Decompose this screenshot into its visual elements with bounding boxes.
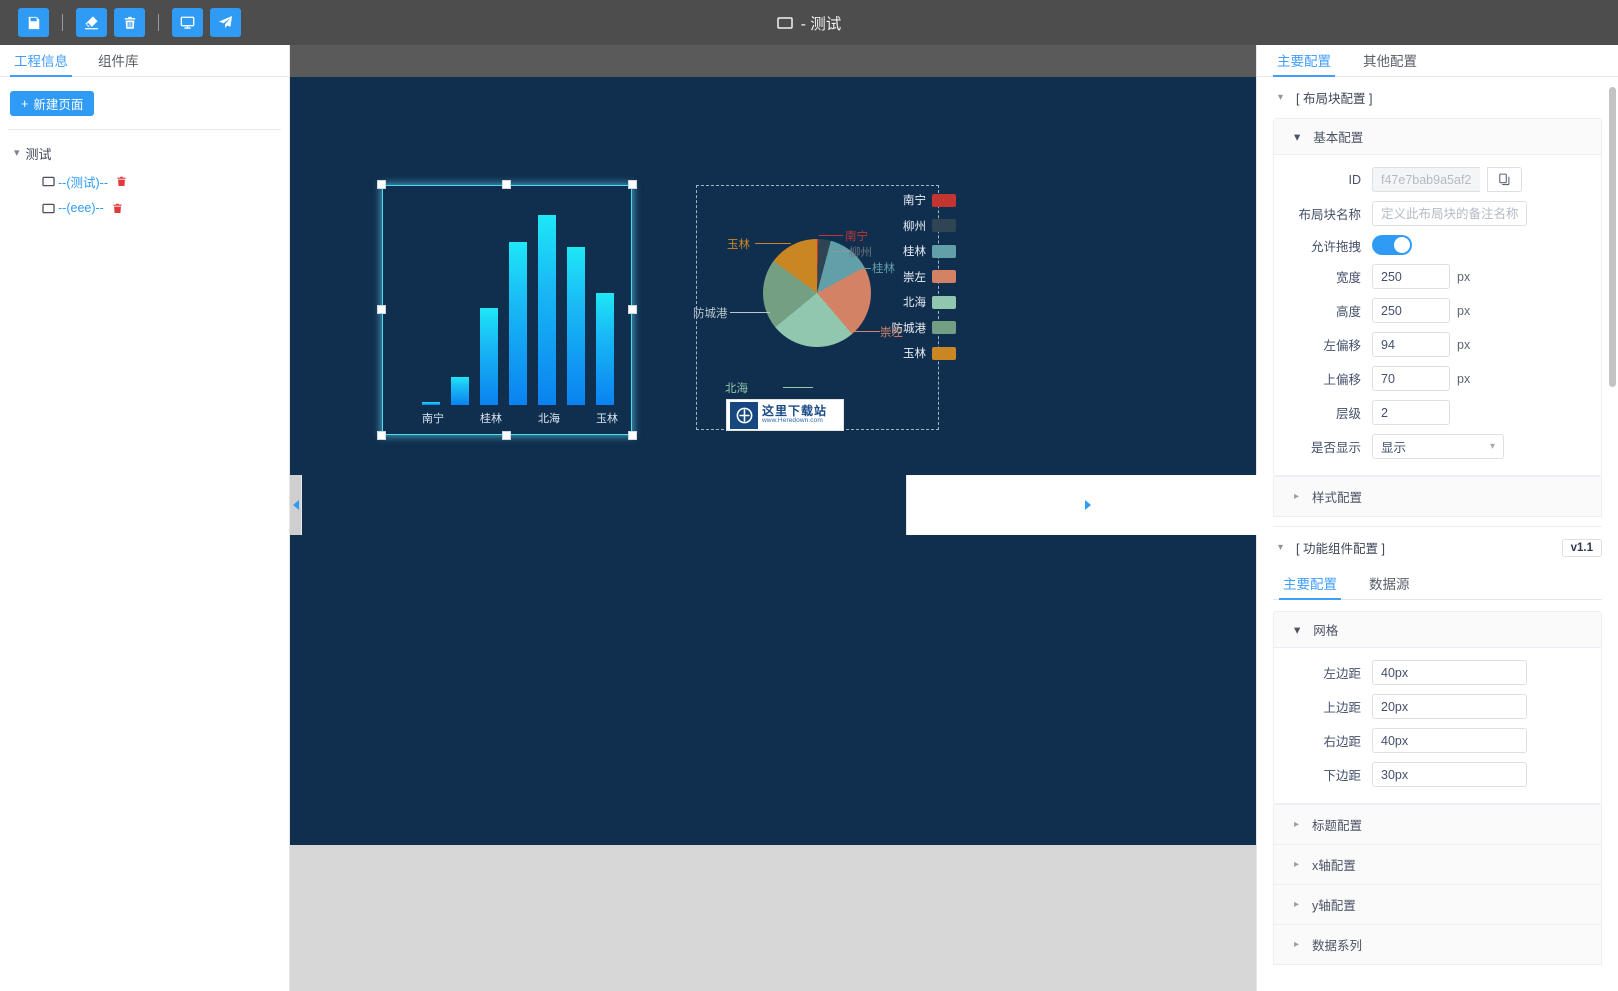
toggle-knob <box>1394 237 1410 253</box>
visibility-select-value: 显示 <box>1381 437 1406 456</box>
pie-legend-swatch <box>932 321 956 334</box>
height-unit: px <box>1457 304 1470 318</box>
chevron-right-icon: ▸ <box>1294 859 1299 870</box>
pie-slice-label: 崇左 <box>880 324 903 340</box>
chevron-right-icon: ▸ <box>1294 899 1299 910</box>
save-icon[interactable] <box>18 8 49 37</box>
pie-chart: 南宁柳州桂林崇左北海防城港玉林 南宁柳州桂林崇左北海防城港玉林 <box>697 186 938 429</box>
grid-config-card: ▾ 网格 左边距 上边距 右边距 <box>1273 611 1602 804</box>
bar-chart-widget[interactable]: 南宁柳州桂林崇左北海防城港玉林 <box>382 185 632 435</box>
resize-handle-bottom-right[interactable] <box>628 431 637 440</box>
section-x-axis-config-title: x轴配置 <box>1312 855 1356 874</box>
section-y-axis-config-title: y轴配置 <box>1312 895 1356 914</box>
tab-other-config[interactable]: 其他配置 <box>1359 45 1421 77</box>
field-width-label: 宽度 <box>1274 267 1372 286</box>
preview-icon[interactable] <box>172 8 203 37</box>
section-data-series-config[interactable]: ▸ 数据系列 <box>1273 925 1602 965</box>
page-icon <box>42 176 55 187</box>
field-height: 高度 px <box>1274 298 1587 323</box>
pie-legend-item[interactable]: 桂林 <box>903 243 956 259</box>
section-style-config-title: 样式配置 <box>1312 487 1362 506</box>
field-margin-left: 左边距 <box>1274 660 1587 685</box>
chevron-right-icon: ▸ <box>1294 491 1299 502</box>
right-panel-tabs: 主要配置 其他配置 <box>1257 45 1618 77</box>
pie-legend-swatch <box>932 296 956 309</box>
window-title-text: - 测试 <box>801 12 841 34</box>
section-y-axis-config[interactable]: ▸ y轴配置 <box>1273 885 1602 925</box>
field-allow-drag: 允许拖拽 <box>1274 235 1587 255</box>
app-root: - 测试 工程信息 组件库 + 新建页面 ▾ 测试 <box>0 0 1618 991</box>
resize-handle-top-left[interactable] <box>377 180 386 189</box>
pie-legend-label: 桂林 <box>903 243 926 259</box>
pie-legend-label: 南宁 <box>903 192 926 208</box>
width-unit: px <box>1457 270 1470 284</box>
field-id: ID <box>1274 167 1587 192</box>
grid-config-body: 左边距 上边距 右边距 下边距 <box>1274 648 1601 803</box>
top-offset-field[interactable] <box>1372 366 1450 391</box>
pie-slice-label: 桂林 <box>872 260 895 276</box>
section-function-component[interactable]: ▾ [ 功能组件配置 ] v1.1 <box>1273 527 1602 568</box>
pie-leader-line <box>783 387 813 388</box>
watermark-title: 这里下载站 <box>762 405 827 418</box>
section-layout-block[interactable]: ▾ [ 布局块配置 ] <box>1273 77 1602 118</box>
pie-slice-label: 北海 <box>725 380 748 396</box>
block-name-field[interactable] <box>1372 201 1527 226</box>
pie-legend-swatch <box>932 194 956 207</box>
trash-icon[interactable] <box>114 8 145 37</box>
window-icon <box>777 16 793 30</box>
pie-leader-line <box>854 331 880 332</box>
section-style-config[interactable]: ▸ 样式配置 <box>1273 476 1602 517</box>
top-toolbar: - 测试 <box>0 0 1618 45</box>
field-margin-top: 上边距 <box>1274 694 1587 719</box>
pie-chart-widget[interactable]: 南宁柳州桂林崇左北海防城港玉林 南宁柳州桂林崇左北海防城港玉林 <box>696 185 939 430</box>
field-margin-right-label: 右边距 <box>1274 731 1372 750</box>
resize-handle-bottom-left[interactable] <box>377 431 386 440</box>
basic-config-title: 基本配置 <box>1313 127 1363 146</box>
field-margin-right: 右边距 <box>1274 728 1587 753</box>
tab-project-info[interactable]: 工程信息 <box>10 45 72 77</box>
list-item-label: --(测试)-- <box>58 172 108 191</box>
new-page-area: + 新建页面 <box>0 77 289 116</box>
section-layout-block-title: [ 布局块配置 ] <box>1296 88 1372 107</box>
section-data-series-config-title: 数据系列 <box>1312 935 1362 954</box>
resize-handle-middle-right[interactable] <box>628 305 637 314</box>
margin-top-field[interactable] <box>1372 694 1527 719</box>
visibility-select[interactable]: 显示 ▾ <box>1372 434 1504 459</box>
pie-legend-item[interactable]: 南宁 <box>903 192 956 208</box>
field-margin-bottom: 下边距 <box>1274 762 1587 787</box>
collapse-right-panel-handle[interactable] <box>906 475 1268 535</box>
pie-leader-line <box>819 235 843 236</box>
pie-leader-line <box>831 251 851 252</box>
pie-slice-label: 防城港 <box>693 305 728 321</box>
resize-handle-bottom-center[interactable] <box>502 431 511 440</box>
field-left-offset-label: 左偏移 <box>1274 335 1372 354</box>
pie-legend-label: 北海 <box>903 294 926 310</box>
field-margin-bottom-label: 下边距 <box>1274 765 1372 784</box>
list-item[interactable]: --(测试)-- <box>0 167 289 196</box>
field-margin-top-label: 上边距 <box>1274 697 1372 716</box>
pie-slice-label: 柳州 <box>849 244 872 260</box>
new-page-label: 新建页面 <box>33 94 83 113</box>
pie-slice-label: 南宁 <box>845 228 868 244</box>
new-page-button[interactable]: + 新建页面 <box>10 91 94 116</box>
margin-bottom-field[interactable] <box>1372 762 1527 787</box>
left-panel-tabs: 工程信息 组件库 <box>0 45 289 77</box>
tab-component-library[interactable]: 组件库 <box>94 45 143 77</box>
pie-legend-item[interactable]: 玉林 <box>903 345 956 361</box>
toolbar-separator <box>62 14 63 31</box>
resize-handle-top-center[interactable] <box>502 180 511 189</box>
z-index-field[interactable] <box>1372 400 1450 425</box>
resize-handle-middle-left[interactable] <box>377 305 386 314</box>
tab-main-config[interactable]: 主要配置 <box>1273 45 1335 77</box>
plus-icon: + <box>21 97 28 111</box>
right-panel: 主要配置 其他配置 ▾ [ 布局块配置 ] ▾ 基本配置 ID <box>1256 45 1618 991</box>
height-field[interactable] <box>1372 298 1450 323</box>
tree-root-label: 测试 <box>26 144 52 163</box>
canvas-ruler <box>290 45 1256 77</box>
allow-drag-toggle[interactable] <box>1372 235 1412 255</box>
version-badge: v1.1 <box>1562 539 1602 557</box>
field-height-label: 高度 <box>1274 301 1372 320</box>
field-left-offset: 左偏移 px <box>1274 332 1587 357</box>
field-visibility: 是否显示 显示 ▾ <box>1274 434 1587 459</box>
page-tree: ▾ 测试 --(测试)-- <box>0 130 289 220</box>
pie-legend-label: 柳州 <box>903 218 926 234</box>
basic-config-card: ▾ 基本配置 ID <box>1273 118 1602 476</box>
pie-legend-swatch <box>932 245 956 258</box>
field-top-offset: 上偏移 px <box>1274 366 1587 391</box>
field-block-name: 布局块名称 <box>1274 201 1587 226</box>
width-field[interactable] <box>1372 264 1450 289</box>
margin-left-field[interactable] <box>1372 660 1527 685</box>
field-margin-left-label: 左边距 <box>1274 663 1372 682</box>
chevron-down-icon: ▾ <box>1278 542 1283 553</box>
watermark-logo-icon <box>730 402 758 429</box>
chevron-down-icon: ▾ <box>1294 129 1300 144</box>
field-allow-drag-label: 允许拖拽 <box>1274 236 1372 255</box>
pie-legend-swatch <box>932 270 956 283</box>
field-visibility-label: 是否显示 <box>1274 437 1372 456</box>
field-top-offset-label: 上偏移 <box>1274 369 1372 388</box>
tree-root-node[interactable]: ▾ 测试 <box>0 140 289 167</box>
tab-component-main-config[interactable]: 主要配置 <box>1279 568 1341 600</box>
right-panel-scrollbar[interactable] <box>1609 87 1616 387</box>
component-tabs: 主要配置 数据源 <box>1273 568 1602 600</box>
chevron-down-icon: ▾ <box>14 148 20 159</box>
list-item-label: --(eee)-- <box>58 201 104 215</box>
toolbar-buttons <box>0 8 241 37</box>
margin-right-field[interactable] <box>1372 728 1527 753</box>
left-offset-unit: px <box>1457 338 1470 352</box>
pie-legend-item[interactable]: 北海 <box>903 294 956 310</box>
delete-icon[interactable] <box>112 203 123 214</box>
copy-icon[interactable] <box>1487 167 1522 192</box>
watermark-url: www.Heredown.com <box>762 418 827 425</box>
left-panel: 工程信息 组件库 + 新建页面 ▾ 测试 <box>0 45 290 991</box>
tab-component-data-source[interactable]: 数据源 <box>1365 568 1414 600</box>
list-item[interactable]: --(eee)-- <box>0 196 289 220</box>
watermark: 这里下载站 www.Heredown.com <box>726 399 844 431</box>
field-id-label: ID <box>1274 173 1372 187</box>
grid-config-header[interactable]: ▾ 网格 <box>1274 612 1601 648</box>
section-x-axis-config[interactable]: ▸ x轴配置 <box>1273 845 1602 885</box>
pie-legend-label: 玉林 <box>903 345 926 361</box>
pie-legend-item[interactable]: 柳州 <box>903 218 956 234</box>
collapse-left-panel-handle[interactable] <box>290 475 302 535</box>
chevron-right-icon <box>1085 500 1091 510</box>
delete-icon[interactable] <box>116 176 127 187</box>
pie-leader-line <box>755 243 791 244</box>
pie-leader-line <box>837 268 871 269</box>
grid-config-title: 网格 <box>1313 620 1338 639</box>
right-panel-body: ▾ [ 布局块配置 ] ▾ 基本配置 ID <box>1257 77 1618 991</box>
chevron-left-icon <box>293 500 299 510</box>
field-z-index-label: 层级 <box>1274 403 1372 422</box>
chevron-down-icon: ▾ <box>1490 441 1495 452</box>
basic-config-body: ID <box>1274 155 1601 475</box>
field-width: 宽度 px <box>1274 264 1587 289</box>
field-block-name-label: 布局块名称 <box>1274 204 1372 223</box>
chevron-right-icon: ▸ <box>1294 819 1299 830</box>
canvas-page[interactable]: 南宁柳州桂林崇左北海防城港玉林 <box>290 77 1256 845</box>
basic-config-header[interactable]: ▾ 基本配置 <box>1274 119 1601 155</box>
page-icon <box>42 203 55 214</box>
chevron-right-icon: ▸ <box>1294 939 1299 950</box>
eraser-icon[interactable] <box>76 8 107 37</box>
pie-legend-label: 崇左 <box>903 269 926 285</box>
id-field[interactable] <box>1372 167 1480 192</box>
toolbar-separator <box>158 14 159 31</box>
window-title: - 测试 <box>0 0 1618 45</box>
left-offset-field[interactable] <box>1372 332 1450 357</box>
pie-legend-swatch <box>932 219 956 232</box>
selection-frame <box>382 185 632 435</box>
chevron-down-icon: ▾ <box>1294 622 1300 637</box>
top-offset-unit: px <box>1457 372 1470 386</box>
section-function-component-title: [ 功能组件配置 ] <box>1296 538 1385 557</box>
resize-handle-top-right[interactable] <box>628 180 637 189</box>
app-body: 工程信息 组件库 + 新建页面 ▾ 测试 <box>0 45 1618 991</box>
pie-legend-swatch <box>932 347 956 360</box>
section-title-config[interactable]: ▸ 标题配置 <box>1273 804 1602 845</box>
watermark-text: 这里下载站 www.Heredown.com <box>762 405 827 424</box>
field-z-index: 层级 <box>1274 400 1587 425</box>
publish-icon[interactable] <box>210 8 241 37</box>
chevron-down-icon: ▾ <box>1278 92 1283 103</box>
pie-legend-item[interactable]: 崇左 <box>903 269 956 285</box>
pie-leader-line <box>730 312 770 313</box>
pie-slice-label: 玉林 <box>727 236 750 252</box>
section-title-config-title: 标题配置 <box>1312 815 1362 834</box>
